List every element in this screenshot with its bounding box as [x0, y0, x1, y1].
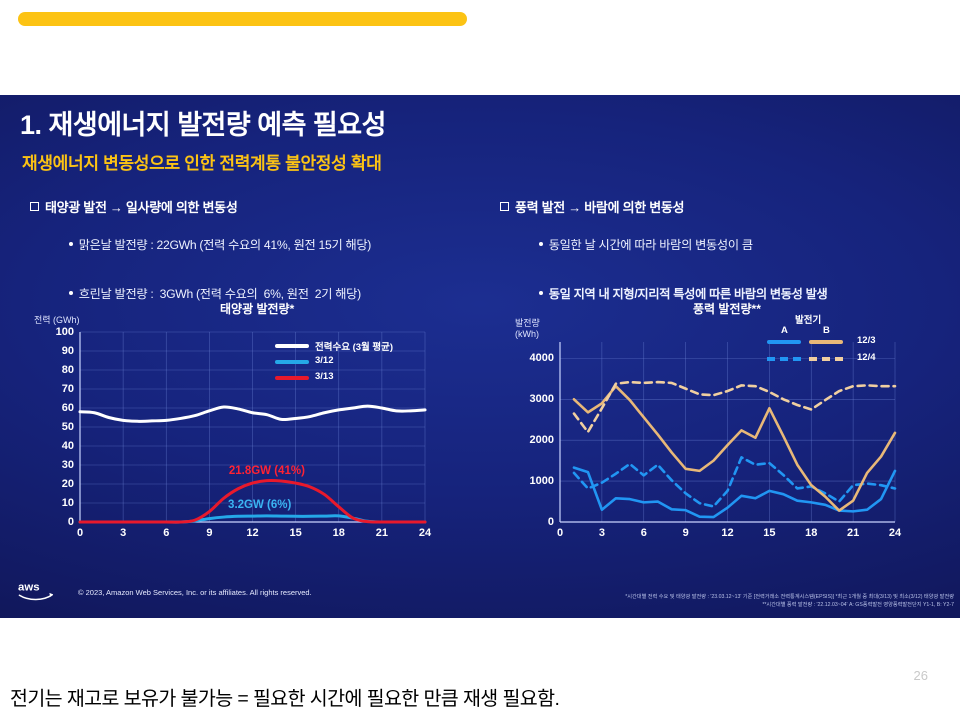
x-axis-tick: 6 [163, 527, 169, 539]
x-axis-tick: 3 [599, 527, 605, 539]
legend-swatch [767, 340, 801, 344]
legend-label: 전력수요 (3월 평균) [315, 339, 393, 353]
legend-swatch [275, 376, 309, 380]
list-item-label: 흐린날 발전량 : 3GWh (전력 수요의 6%, 원전 2기 해당) [79, 287, 361, 301]
y-axis-tick: 70 [34, 383, 74, 395]
dot-bullet-icon [539, 291, 543, 295]
page-title: 1. 재생에너지 발전량 예측 필요성 [20, 103, 386, 142]
bullet-heading-solar: 태양광 발전 → 일사량에 의한 변동성 [30, 197, 371, 216]
legend-row-label: 12/4 [857, 352, 876, 363]
bullet-heading-wind: 풍력 발전 → 바람에 의한 변동성 [500, 197, 827, 216]
slide-subtitle: 재생에너지 변동성으로 인한 전력계통 불안정성 확대 [22, 149, 382, 174]
list-item-label: 맑은날 발전량 : 22GWh (전력 수요의 41%, 원전 15기 해당) [79, 238, 371, 252]
footnote-wind: **시간대별 풍력 발전량 : '22.12.03~04' A: GS풍력발전 … [762, 601, 954, 608]
y-axis-tick: 0 [514, 516, 554, 528]
legend-group-title: 발전기 [795, 312, 821, 326]
top-accent-bar [18, 12, 467, 26]
y-axis-tick: 80 [34, 364, 74, 376]
solar-plot-area [80, 332, 425, 522]
chart-title-solar: 태양광 발전량* [220, 300, 294, 317]
square-bullet-icon [500, 202, 509, 211]
y-axis-tick: 50 [34, 421, 74, 433]
bullet-group-solar: 태양광 발전 → 일사량에 의한 변동성 맑은날 발전량 : 22GWh (전력… [30, 197, 371, 316]
legend-swatch [809, 340, 843, 344]
caption-block: 전기는 재고로 보유가 불가능 = 필요한 시간에 필요한 만큼 재생 필요함.… [10, 622, 954, 720]
y-axis-tick: 10 [34, 497, 74, 509]
y-axis-tick: 20 [34, 478, 74, 490]
x-axis-tick: 24 [419, 527, 431, 539]
solar-generation-chart: 태양광 발전량* 전력 (GWh) 0102030405060708090100… [20, 300, 460, 560]
legend-column-header: A [781, 325, 788, 336]
x-axis-tick: 21 [847, 527, 859, 539]
list-item-label: 동일한 날 시간에 따라 바람의 변동성이 큼 [549, 238, 753, 252]
legend-column-header: B [823, 325, 830, 336]
y-axis-tick: 3000 [514, 393, 554, 405]
screenshot-root: 1. 재생에너지 발전량 예측 필요성 재생에너지 변동성으로 인한 전력계통 … [0, 0, 960, 720]
legend-label: 3/12 [315, 355, 334, 366]
y-axis-tick: 30 [34, 459, 74, 471]
x-axis-tick: 6 [641, 527, 647, 539]
list-item-label: 동일 지역 내 지형/지리적 특성에 따른 바람의 변동성 발생 [549, 287, 828, 301]
legend-swatch [809, 357, 843, 361]
y-axis-label-wind: 발전량 (kWh) [515, 318, 540, 340]
bullet-group-wind: 풍력 발전 → 바람에 의한 변동성 동일한 날 시간에 따라 바람의 변동성이… [500, 197, 827, 316]
legend-label: 3/13 [315, 371, 334, 382]
x-axis-tick: 12 [246, 527, 258, 539]
footnote-solar: *시간대별 전력 수요 및 태양광 발전량 : '23.03.12~13' 기준… [625, 593, 954, 600]
y-axis-tick: 4000 [514, 352, 554, 364]
x-axis-tick: 0 [77, 527, 83, 539]
wind-plot-area [560, 342, 895, 522]
x-axis-tick: 15 [763, 527, 775, 539]
y-axis-label-solar: 전력 (GWh) [34, 315, 80, 326]
legend-row-label: 12/3 [857, 335, 876, 346]
x-axis-tick: 18 [333, 527, 345, 539]
list-item: 맑은날 발전량 : 22GWh (전력 수요의 41%, 원전 15기 해당) [44, 221, 371, 267]
y-axis-tick: 1000 [514, 475, 554, 487]
chart-annotation: 21.8GW (41%) [229, 465, 305, 477]
list-item: 동일한 날 시간에 따라 바람의 변동성이 큼 [514, 221, 827, 267]
copyright-text: © 2023, Amazon Web Services, Inc. or its… [78, 588, 312, 597]
x-axis-tick: 21 [376, 527, 388, 539]
dot-bullet-icon [69, 242, 73, 246]
x-axis-tick: 18 [805, 527, 817, 539]
dot-bullet-icon [539, 242, 543, 246]
presentation-slide: 1. 재생에너지 발전량 예측 필요성 재생에너지 변동성으로 인한 전력계통 … [0, 95, 960, 618]
legend-swatch [275, 344, 309, 348]
x-axis-tick: 15 [290, 527, 302, 539]
dot-bullet-icon [69, 291, 73, 295]
aws-logo: aws [18, 580, 56, 602]
x-axis-tick: 12 [721, 527, 733, 539]
chart-annotation: 3.2GW (6%) [228, 499, 291, 511]
square-bullet-icon [30, 202, 39, 211]
x-axis-tick: 3 [120, 527, 126, 539]
page-number: 26 [914, 668, 928, 683]
x-axis-tick: 9 [683, 527, 689, 539]
chart-title-wind: 풍력 발전량** [693, 300, 761, 317]
x-axis-tick: 9 [206, 527, 212, 539]
y-axis-tick: 60 [34, 402, 74, 414]
svg-text:aws: aws [18, 582, 40, 594]
x-axis-tick: 24 [889, 527, 901, 539]
caption-line-1: 전기는 재고로 보유가 불가능 = 필요한 시간에 필요한 만큼 재생 필요함. [10, 684, 954, 715]
bullet-heading-wind-label: 풍력 발전 → 바람에 의한 변동성 [515, 200, 684, 215]
bullet-heading-solar-label: 태양광 발전 → 일사량에 의한 변동성 [45, 200, 238, 215]
wind-generation-chart: 풍력 발전량** 발전량 (kWh) 010002000300040000369… [495, 300, 950, 560]
y-axis-tick: 2000 [514, 434, 554, 446]
legend-swatch [275, 360, 309, 364]
y-axis-tick: 90 [34, 345, 74, 357]
x-axis-tick: 0 [557, 527, 563, 539]
y-axis-tick: 0 [34, 516, 74, 528]
legend-swatch [767, 357, 801, 361]
y-axis-tick: 40 [34, 440, 74, 452]
y-axis-tick: 100 [34, 326, 74, 338]
